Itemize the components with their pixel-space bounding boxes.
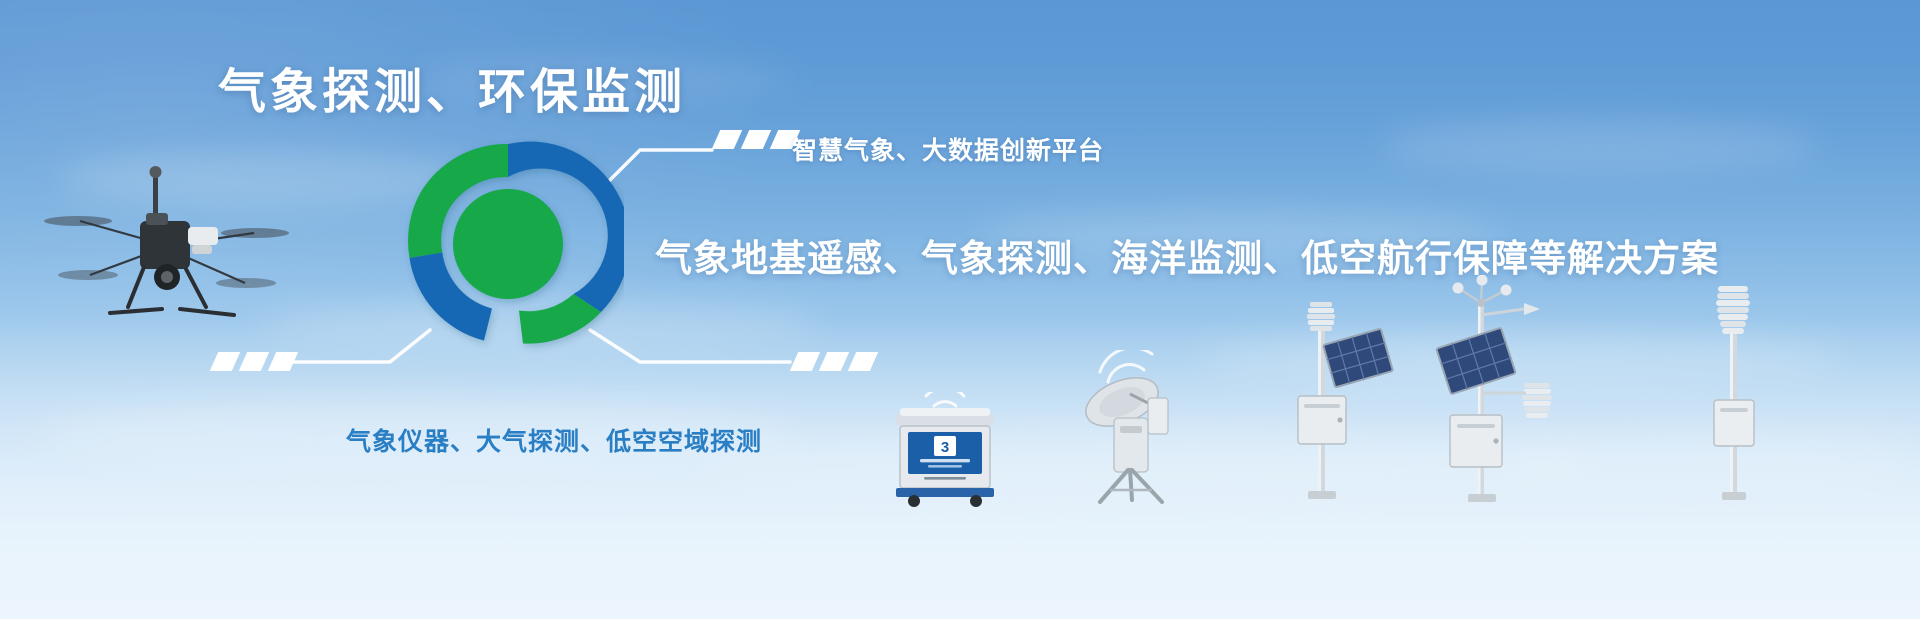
solar-weather-station-1 (1280, 300, 1395, 505)
survey-drone (40, 155, 290, 340)
sensor-mast (1700, 282, 1770, 507)
radar-dish-tripod (1070, 350, 1205, 510)
callout-main-label: 气象地基遥感、气象探测、海洋监测、低空航行保障等解决方案 (655, 228, 1719, 282)
ring-center-circle (453, 189, 563, 299)
callout-top-label: 智慧气象、大数据创新平台 (792, 131, 1104, 167)
solar-weather-station-2 (1420, 275, 1595, 505)
page-title: 气象探测、环保监测 (218, 52, 686, 122)
instrument-cart: 3 (890, 392, 1000, 507)
cloud-wisp (1380, 120, 1820, 172)
accent-slashes-left (214, 352, 294, 371)
banner-stage: 气象探测、环保监测 智慧气象、大数据创新平台 气象地基遥感、气象探测、海洋监测、… (0, 0, 1920, 619)
accent-slashes-top (716, 130, 796, 149)
callout-bottom-label: 气象仪器、大气探测、低空空域探测 (346, 422, 762, 458)
svg-text:3: 3 (941, 439, 949, 456)
concentric-ring-diagram (392, 128, 624, 360)
accent-slashes-right (794, 352, 874, 371)
